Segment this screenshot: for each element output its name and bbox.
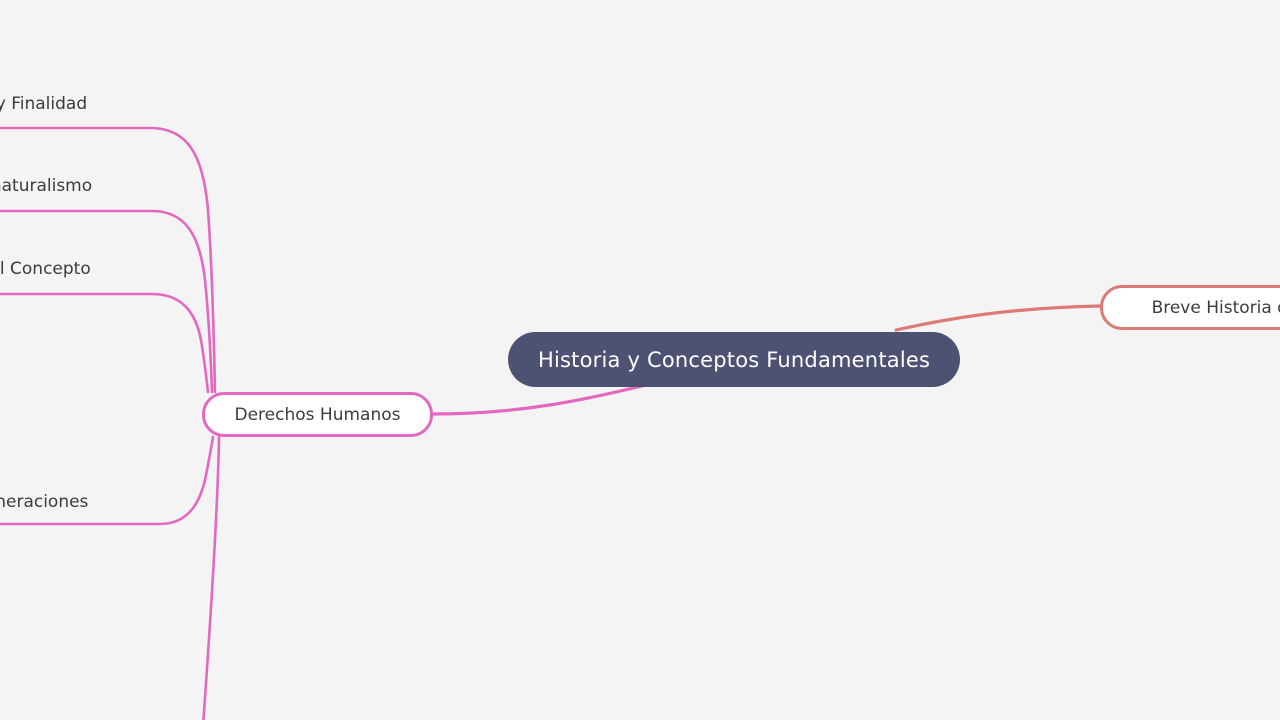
root-node[interactable]: Historia y Conceptos Fundamentales — [508, 332, 960, 387]
edge-dh-to-fundamento — [0, 211, 212, 392]
edge-dh-to-definicion — [0, 294, 208, 392]
leaf-label-definicion-concepto[interactable]: ción del Concepto — [0, 259, 91, 279]
edge-root-to-breve-historia — [896, 306, 1100, 330]
branch-node-derechos-humanos[interactable]: Derechos Humanos — [202, 392, 433, 437]
leaf-label-fundamento-iusnaturalismo[interactable]: to: Iusnaturalismo — [0, 176, 92, 196]
leaf-label-definicion-concepto-text: ción del Concepto — [0, 259, 91, 279]
edge-dh-to-offscreen-branch — [203, 437, 219, 720]
root-node-label: Historia y Conceptos Fundamentales — [538, 348, 930, 372]
leaf-label-importancia-finalidad[interactable]: tancia y Finalidad — [0, 94, 87, 114]
leaf-label-importancia-finalidad-text: tancia y Finalidad — [0, 94, 87, 114]
leaf-label-clasificacion-generaciones[interactable]: por Generaciones — [0, 492, 88, 512]
branch-node-breve-historia[interactable]: Breve Historia de — [1100, 285, 1280, 330]
leaf-label-clasificacion-generaciones-text: por Generaciones — [0, 492, 88, 512]
branch-node-breve-historia-label: Breve Historia de — [1152, 298, 1280, 318]
mindmap-canvas[interactable]: Historia y Conceptos Fundamentales Derec… — [0, 0, 1280, 720]
branch-node-derechos-humanos-label: Derechos Humanos — [235, 405, 401, 425]
leaf-label-fundamento-iusnaturalismo-text: to: Iusnaturalismo — [0, 176, 92, 196]
